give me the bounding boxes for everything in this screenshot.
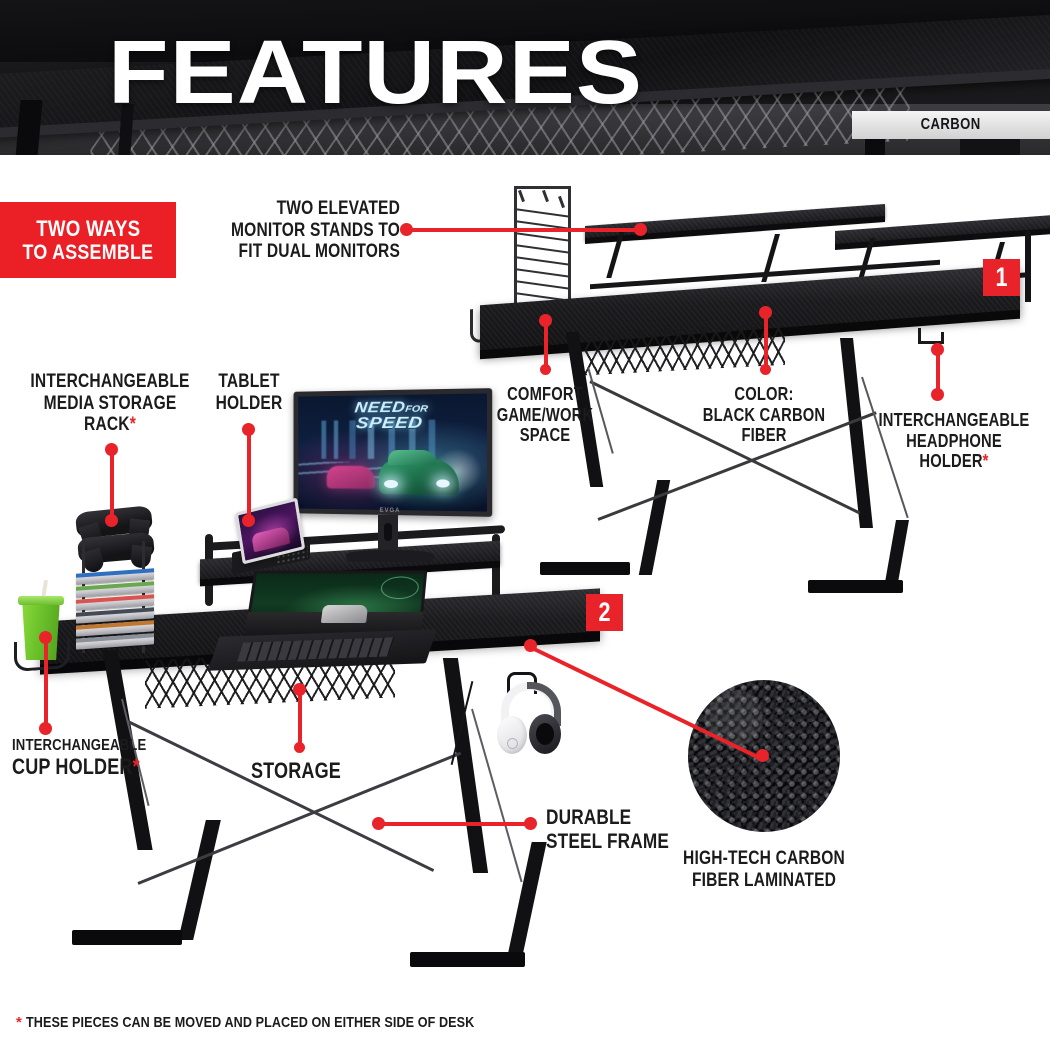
leader-dot-cup-holder-target <box>39 631 52 644</box>
leader-dot-headphone-holder-target <box>931 343 944 356</box>
leader-dot-carbon-closeup-circle <box>756 749 769 762</box>
features-infographic-page: FEATURES CARBON TWO WAYS TO ASSEMBLE <box>0 0 1050 1050</box>
game-title-overlay: NEEDFOR SPEED <box>298 399 487 431</box>
leader-dot-steel-frame-label <box>524 817 537 830</box>
label-cup-holder: INTERCHANGEABLE CUP HOLDER* <box>12 737 176 779</box>
label-steel-frame-line-2: STEEL FRAME <box>546 830 669 854</box>
label-storage: STORAGE <box>238 758 354 783</box>
leader-dot-storage-label <box>294 742 305 753</box>
label-headphone-holder: INTERCHANGEABLE HEADPHONE HOLDER* <box>858 410 1050 472</box>
label-steel-frame: DURABLE STEEL FRAME <box>546 806 696 854</box>
desk2-leg-lower-left <box>178 820 221 940</box>
label-media-rack-asterisk: * <box>130 414 136 435</box>
monitor-with-game: NEEDFOR SPEED EVGA <box>290 390 490 565</box>
label-color-line-1: COLOR: <box>693 384 834 405</box>
header-banner: FEATURES CARBON <box>0 0 1050 155</box>
rack-slot-5 <box>516 256 570 266</box>
game-art-headlight-right <box>436 479 450 487</box>
label-comfort-line-2: GAME/WORK <box>493 405 596 426</box>
desk2-foot-right <box>410 952 525 967</box>
leader-dot-comfort-space-target <box>539 314 552 327</box>
leader-dot-monitor-stands-label <box>400 223 413 236</box>
assembly-number-badge-2: 2 <box>586 594 623 631</box>
shelf-support-post-right <box>1025 230 1031 302</box>
leader-dot-color-target <box>759 306 772 319</box>
carbon-badge: CARBON <box>852 111 1050 139</box>
footer-asterisk: * <box>16 1014 22 1031</box>
laptop <box>215 570 430 675</box>
footer-disclaimer: * THESE PIECES CAN BE MOVED AND PLACED O… <box>16 1014 560 1031</box>
cup-in-cup-holder <box>18 588 66 670</box>
media-storage-rack-bottom <box>62 505 172 655</box>
desk2-leg-front-right <box>443 658 488 873</box>
assembly-number-badge-2-label: 2 <box>598 599 610 626</box>
hook-tip <box>941 332 944 344</box>
label-headphone-line-2: HEADPHONE <box>875 431 1032 452</box>
label-cup-holder-asterisk: * <box>133 754 140 779</box>
label-headphone-word-holder: HOLDER <box>919 451 982 471</box>
leader-dot-cup-holder-label <box>39 722 52 735</box>
desk1-leg-lower-right <box>884 520 909 588</box>
label-comfort-line-1: COMFORT <box>493 384 596 405</box>
label-monitor-stands-line-1: TWO ELEVATED <box>220 198 400 220</box>
monitor-bezel: NEEDFOR SPEED EVGA <box>294 388 493 517</box>
assembly-number-badge-1-label: 1 <box>995 264 1007 291</box>
rack-hook-1 <box>518 190 525 202</box>
rack-hook-2 <box>542 190 549 202</box>
label-color: COLOR: BLACK CARBON FIBER <box>678 384 850 446</box>
label-monitor-stands-line-3: FIT DUAL MONITORS <box>220 241 400 263</box>
laptop-game-car <box>320 605 368 624</box>
label-cup-holder-line-1: INTERCHANGEABLE <box>12 737 146 755</box>
laptop-game-hud <box>379 576 420 599</box>
leader-dot-steel-frame-target <box>372 817 385 830</box>
label-comfort-line-3: SPACE <box>493 425 596 446</box>
leader-dot-carbon-closeup-target <box>524 639 537 652</box>
desk1-foot-right <box>808 580 903 593</box>
game-title-need: NEED <box>354 398 407 416</box>
leader-line-tablet-holder <box>247 428 251 520</box>
two-ways-to-assemble-callout: TWO WAYS TO ASSEMBLE <box>0 202 176 278</box>
label-headphone-asterisk: * <box>983 451 989 471</box>
label-media-rack-word-rack: RACK <box>84 414 130 435</box>
headphone-earcup-left <box>497 716 527 754</box>
rack-hook-3 <box>558 196 565 208</box>
leader-line-comfort-space <box>544 320 548 370</box>
rack-top-bar <box>514 186 571 189</box>
label-cup-holder-line-2: CUP HOLDER* <box>12 755 146 779</box>
desk2-foot-left <box>72 930 182 945</box>
assemble-line-2: TO ASSEMBLE <box>23 241 154 264</box>
laptop-screen-content <box>247 574 424 640</box>
rack-slot-6 <box>516 268 570 278</box>
assembly-number-badge-1: 1 <box>983 259 1020 296</box>
label-comfort-space: COMFORT GAME/WORK SPACE <box>482 384 608 446</box>
carbon-badge-label: CARBON <box>921 116 981 134</box>
rack-slot-4 <box>516 244 570 254</box>
rack-slot-7 <box>516 280 570 290</box>
label-monitor-stands: TWO ELEVATED MONITOR STANDS TO FIT DUAL … <box>180 198 400 263</box>
label-carbon-laminated: HIGH-TECH CARBON FIBER LAMINATED <box>656 848 872 891</box>
leader-dot-storage-target <box>293 683 306 696</box>
label-storage-text: STORAGE <box>248 758 343 783</box>
page-title: FEATURES <box>108 26 643 120</box>
label-color-line-3: FIBER <box>693 425 834 446</box>
label-monitor-stands-line-2: MONITOR STANDS TO <box>220 220 400 242</box>
rack-slot-3 <box>516 232 570 242</box>
leader-line-monitor-stands <box>406 228 506 232</box>
label-headphone-line-3: HOLDER* <box>875 451 1032 472</box>
monitor-screen: NEEDFOR SPEED <box>298 393 487 511</box>
game-art-car-pink <box>327 466 375 489</box>
label-tablet-holder-line-2: HOLDER <box>201 393 298 415</box>
game-title-speed: SPEED <box>298 416 487 432</box>
assemble-line-1: TWO WAYS <box>36 217 140 241</box>
game-art-headlight-left <box>384 480 397 488</box>
leader-dot-media-rack-target <box>105 514 118 527</box>
rack-post-left <box>514 186 517 316</box>
label-carbon-laminated-line-2: FIBER LAMINATED <box>675 870 852 892</box>
leader-line-cup-holder <box>44 636 48 728</box>
label-media-storage-rack: INTERCHANGEABLE MEDIA STORAGE RACK* <box>0 371 220 436</box>
label-tablet-holder: TABLET HOLDER <box>190 371 308 414</box>
leader-line-media-rack <box>110 448 114 520</box>
label-color-line-2: BLACK CARBON <box>693 405 834 426</box>
label-tablet-holder-line-1: TABLET <box>201 371 298 393</box>
rack-slot-1 <box>516 208 570 218</box>
storage-basket-top-desk <box>585 323 785 375</box>
leader-dot-media-rack-label <box>105 443 118 456</box>
leader-line-color <box>764 312 768 370</box>
label-media-rack-line-1: INTERCHANGEABLE <box>20 371 200 393</box>
leader-dot-comfort-space-label <box>540 364 551 375</box>
footer-note-text: THESE PIECES CAN BE MOVED AND PLACED ON … <box>26 1014 474 1031</box>
monitor-stand-cable-hole <box>384 523 392 541</box>
label-carbon-laminated-line-1: HIGH-TECH CARBON <box>675 848 852 870</box>
leader-dot-headphone-holder-label <box>931 388 944 401</box>
label-media-rack-line-3: RACK* <box>20 414 200 436</box>
leader-dot-tablet-holder-target <box>242 514 255 527</box>
leader-dot-color-label <box>760 364 771 375</box>
leader-line-storage <box>298 688 302 748</box>
game-title-for: FOR <box>405 403 429 413</box>
leader-line-monitor-stands-2 <box>506 228 640 232</box>
game-art-car-green <box>379 459 460 494</box>
label-cup-holder-words: CUP HOLDER <box>12 754 133 779</box>
cup-lid <box>18 596 64 605</box>
label-headphone-line-1: INTERCHANGEABLE <box>875 410 1032 431</box>
monitor-stand-base <box>346 550 434 562</box>
label-media-rack-line-2: MEDIA STORAGE <box>20 393 200 415</box>
label-steel-frame-line-1: DURABLE <box>546 806 669 830</box>
headphones-on-hook <box>495 672 575 764</box>
leader-line-steel-frame <box>378 822 530 826</box>
headphone-earcup-right <box>529 714 561 754</box>
leader-dot-tablet-holder-label <box>242 423 255 436</box>
tablet-screen-car <box>251 526 290 552</box>
